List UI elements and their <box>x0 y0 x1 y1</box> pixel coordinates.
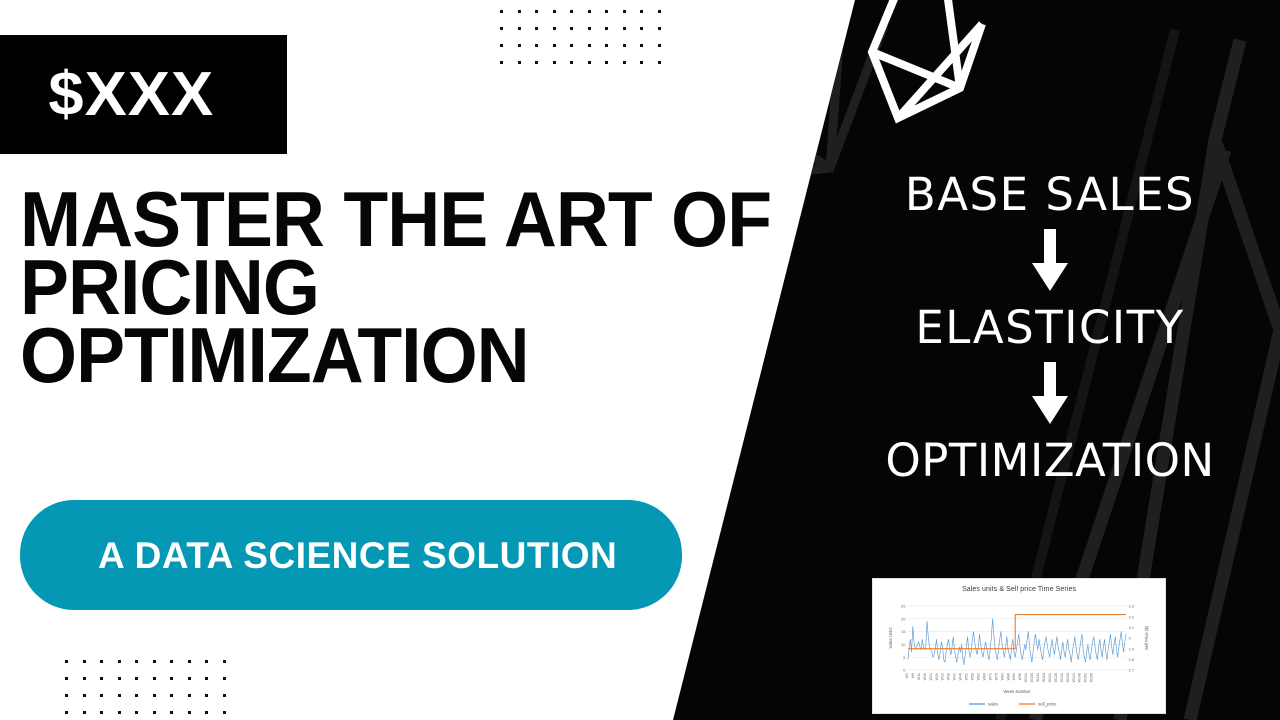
dot <box>518 44 521 47</box>
dot <box>658 10 661 13</box>
chart-xtick: W61 <box>977 673 981 680</box>
dot <box>500 44 503 47</box>
chart-y2tick: 3.1 <box>1129 625 1135 630</box>
dot <box>623 61 626 64</box>
dot <box>100 711 103 714</box>
dot <box>205 660 208 663</box>
chart-y2tick: 3 <box>1129 636 1132 641</box>
dot <box>518 61 521 64</box>
chart-series-sales <box>908 619 1126 665</box>
dot <box>83 660 86 663</box>
dot <box>553 27 556 30</box>
dot <box>605 10 608 13</box>
dot <box>570 10 573 13</box>
chart-xtick: W1 <box>905 673 909 678</box>
dot <box>118 660 121 663</box>
dot <box>65 711 68 714</box>
chart-xlabel: Week Number <box>1004 689 1031 694</box>
page-title: MASTER THE ART OF PRICING OPTIMIZATION <box>20 186 750 390</box>
chart-ytick: 5 <box>903 655 906 660</box>
dot <box>223 694 226 697</box>
chart-ytick: 25 <box>901 604 906 609</box>
chart-xtick: W151 <box>1084 673 1088 682</box>
chart-xtick: W136 <box>1066 673 1070 682</box>
chart-xtick: W116 <box>1042 673 1046 682</box>
dot <box>605 44 608 47</box>
dot <box>553 10 556 13</box>
chart-xtick: W156 <box>1090 673 1094 682</box>
dot <box>100 694 103 697</box>
chart-y2tick: 2.7 <box>1129 668 1135 673</box>
dot <box>623 44 626 47</box>
chart-xtick: W21 <box>929 673 933 680</box>
dot <box>188 694 191 697</box>
headline-line-3: OPTIMIZATION <box>20 322 706 390</box>
dot <box>658 44 661 47</box>
dot <box>535 61 538 64</box>
chart-xtick: W111 <box>1036 673 1040 682</box>
dot <box>83 711 86 714</box>
chart-xtick: W126 <box>1054 673 1058 682</box>
dot <box>518 10 521 13</box>
dot <box>205 694 208 697</box>
cta-button-label: A DATA SCIENCE SOLUTION <box>98 537 617 574</box>
dot <box>500 10 503 13</box>
dot <box>205 677 208 680</box>
dot-grid-top <box>500 10 680 80</box>
chart-xtick: W66 <box>982 673 986 680</box>
dot <box>170 677 173 680</box>
dot <box>623 10 626 13</box>
chart-ylabel: Sales Units <box>888 627 893 648</box>
dot <box>153 677 156 680</box>
chart-xtick: W36 <box>947 673 951 680</box>
dot <box>153 711 156 714</box>
legend-label-sell-price: sell_price <box>1038 702 1057 707</box>
chart-xtick: W101 <box>1024 673 1028 682</box>
dot <box>640 61 643 64</box>
chart-xtick: W26 <box>935 673 939 680</box>
chart-xtick: W86 <box>1006 673 1010 680</box>
chart-ytick: 20 <box>901 616 906 621</box>
chart-xtick: W71 <box>988 673 992 680</box>
chart-xtick: W141 <box>1072 673 1076 682</box>
dot <box>170 711 173 714</box>
dot <box>623 27 626 30</box>
chart-xtick: W31 <box>941 673 945 680</box>
dot <box>118 694 121 697</box>
arrow-down-icon <box>1028 229 1072 293</box>
chart-xtick: W81 <box>1000 673 1004 680</box>
dot <box>518 27 521 30</box>
process-flow: BASE SALES ELASTICITY OPTIMIZATION <box>820 172 1280 483</box>
dot <box>535 10 538 13</box>
chart-xtick: W51 <box>965 673 969 680</box>
dot <box>135 694 138 697</box>
dot <box>83 677 86 680</box>
dot <box>553 44 556 47</box>
dot <box>535 27 538 30</box>
chart-xtick: W76 <box>994 673 998 680</box>
dot <box>100 660 103 663</box>
dot <box>100 677 103 680</box>
chart-y2tick: 2.8 <box>1129 657 1135 662</box>
dot <box>223 660 226 663</box>
flow-step-optimization: OPTIMIZATION <box>885 438 1214 483</box>
chart-card[interactable]: Sales units & Sell price Time Series 051… <box>872 578 1166 714</box>
dot <box>605 27 608 30</box>
dot <box>188 660 191 663</box>
chart-y2tick: 2.9 <box>1129 646 1135 651</box>
chart-ytick: 10 <box>901 642 906 647</box>
chart-y2tick: 3.3 <box>1129 604 1135 609</box>
chart-y2label: Sell Price ($) <box>1144 625 1149 650</box>
chart-ytick: 15 <box>901 629 906 634</box>
dot <box>588 27 591 30</box>
chart-xtick: W11 <box>917 673 921 680</box>
dot <box>658 61 661 64</box>
chart-xtick: W131 <box>1060 673 1064 682</box>
chart-xtick: W16 <box>923 673 927 680</box>
dot <box>223 677 226 680</box>
dot <box>570 27 573 30</box>
dot <box>83 694 86 697</box>
flow-step-base-sales: BASE SALES <box>905 172 1195 217</box>
dot <box>553 61 556 64</box>
chart-xtick: W56 <box>971 673 975 680</box>
chart-ytick: 0 <box>903 668 906 673</box>
dot <box>500 61 503 64</box>
dot <box>640 27 643 30</box>
chart-xtick: W46 <box>959 673 963 680</box>
dot <box>658 27 661 30</box>
dot <box>588 10 591 13</box>
dot <box>65 677 68 680</box>
dot-grid-bottom-left <box>65 660 245 720</box>
dot <box>65 660 68 663</box>
dot <box>170 694 173 697</box>
dot <box>188 677 191 680</box>
chart-inner: Sales units & Sell price Time Series 051… <box>878 584 1160 708</box>
dot <box>500 27 503 30</box>
chart-xtick: W146 <box>1078 673 1082 682</box>
chart-xtick: W91 <box>1012 673 1016 680</box>
dot <box>205 711 208 714</box>
dot <box>188 711 191 714</box>
dot <box>153 660 156 663</box>
dot <box>153 694 156 697</box>
chart-xtick: W121 <box>1048 673 1052 682</box>
price-badge-label: $XXX <box>48 64 214 126</box>
dot <box>588 44 591 47</box>
flow-step-elasticity: ELASTICITY <box>915 305 1184 350</box>
legend-label-sales: sales <box>988 702 999 707</box>
cta-button[interactable]: A DATA SCIENCE SOLUTION <box>20 500 682 610</box>
dot <box>640 10 643 13</box>
dot <box>223 711 226 714</box>
poster-canvas: $XXX MASTER THE ART OF PRICING OPTIMIZAT… <box>0 0 1280 720</box>
dot <box>535 44 538 47</box>
dot <box>135 660 138 663</box>
chart-xtick: W106 <box>1030 673 1034 682</box>
chart-y2tick: 3.2 <box>1129 614 1135 619</box>
dot <box>135 677 138 680</box>
dot <box>118 711 121 714</box>
dot <box>588 61 591 64</box>
dot <box>118 677 121 680</box>
dot <box>65 694 68 697</box>
price-badge: $XXX <box>0 35 287 154</box>
chart-xtick: W6 <box>911 673 915 678</box>
dot <box>570 61 573 64</box>
dot <box>170 660 173 663</box>
dot <box>570 44 573 47</box>
arrow-down-icon-2 <box>1028 362 1072 426</box>
dot <box>640 44 643 47</box>
chart-plot: 05101520252.72.82.933.13.23.3W1W6W11W16W… <box>878 584 1162 710</box>
chart-xtick: W96 <box>1018 673 1022 680</box>
chart-xtick: W41 <box>953 673 957 680</box>
dot <box>605 61 608 64</box>
dot <box>135 711 138 714</box>
